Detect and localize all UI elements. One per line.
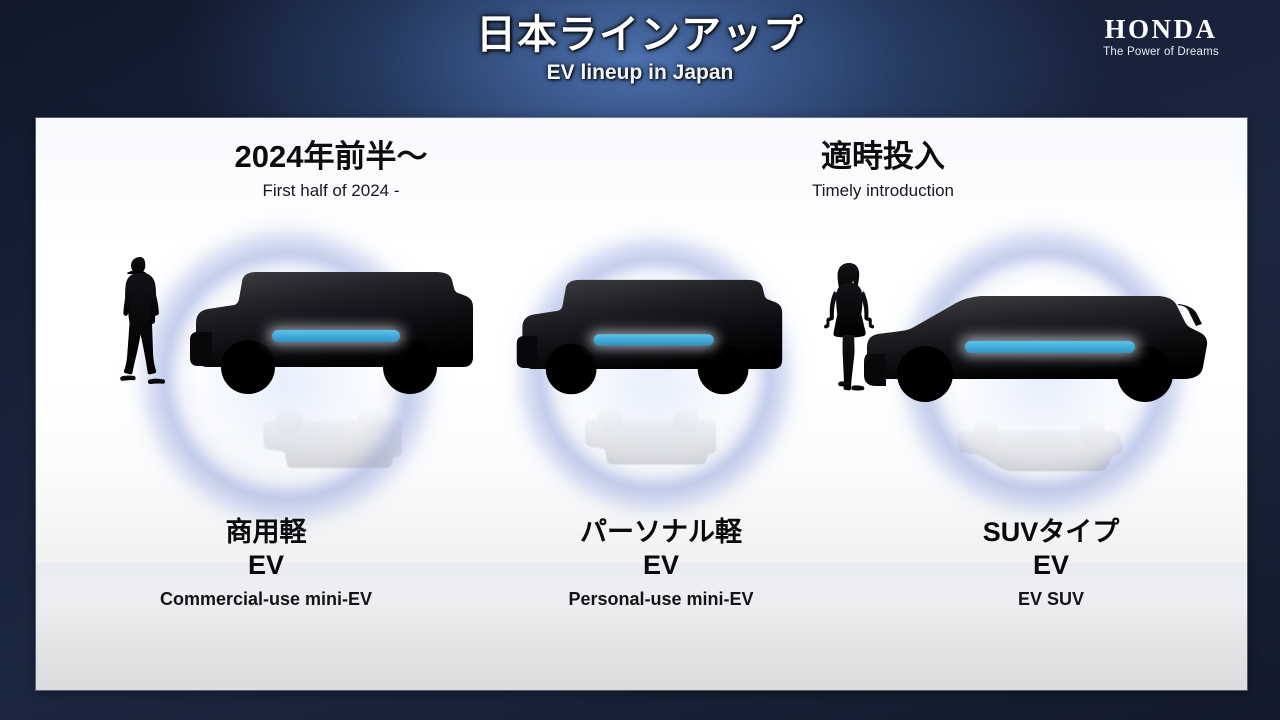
vehicle-en-label: Personal-use mini-EV [496,589,826,610]
vehicle-label-personal: パーソナル軽 EV Personal-use mini-EV [496,516,826,610]
personal-mini-ev-silhouette [513,268,785,408]
phase-heading-timely-introduction: 適時投入 Timely introduction [708,140,1058,201]
phase-jp-label: 2024年前半〜 [156,140,506,174]
vehicle-en-label: EV SUV [896,589,1206,610]
content-panel: 2024年前半〜 First half of 2024 - 適時投入 Timel… [36,118,1247,690]
ev-light-bar [594,334,714,345]
brand-tagline: The Power of Dreams [1066,46,1256,58]
slide-root: 日本ラインアップ EV lineup in Japan HONDA The Po… [0,0,1280,720]
ev-suv-silhouette [863,286,1223,414]
vehicle-en-label: Commercial-use mini-EV [121,589,411,610]
personal-mini-ev-reflection [513,400,785,470]
vehicle-label-commercial: 商用軽 EV Commercial-use mini-EV [121,516,411,610]
vehicle-stage-suv [848,266,1238,476]
vehicle-jp-label: 商用軽 [121,516,411,549]
commercial-mini-ev-silhouette [186,260,476,408]
ev-suv-reflection [863,414,1223,476]
male-silhouette-reflection [116,388,174,438]
ev-light-bar [965,341,1135,353]
honda-logo: HONDA The Power of Dreams [1066,16,1256,58]
vehicle-ev-label: EV [496,549,826,582]
vehicle-jp-label: パーソナル軽 [496,516,826,549]
vehicle-stage-personal [491,256,891,471]
commercial-mini-ev-reflection [186,400,476,474]
vehicle-jp-label: SUVタイプ [896,516,1206,549]
vehicle-ev-label: EV [896,549,1206,582]
ev-light-bar [272,330,400,342]
vehicle-stage-commercial [56,248,476,468]
phase-en-label: Timely introduction [708,181,1058,201]
phase-jp-label: 適時投入 [708,140,1058,174]
brand-wordmark: HONDA [1066,16,1256,43]
vehicle-ev-label: EV [121,549,411,582]
page-title-en: EV lineup in Japan [0,61,1280,85]
phase-en-label: First half of 2024 - [156,181,506,201]
male-silhouette-icon [116,253,174,388]
vehicle-label-suv: SUVタイプ EV EV SUV [896,516,1206,610]
phase-heading-first-half-2024: 2024年前半〜 First half of 2024 - [156,140,506,201]
